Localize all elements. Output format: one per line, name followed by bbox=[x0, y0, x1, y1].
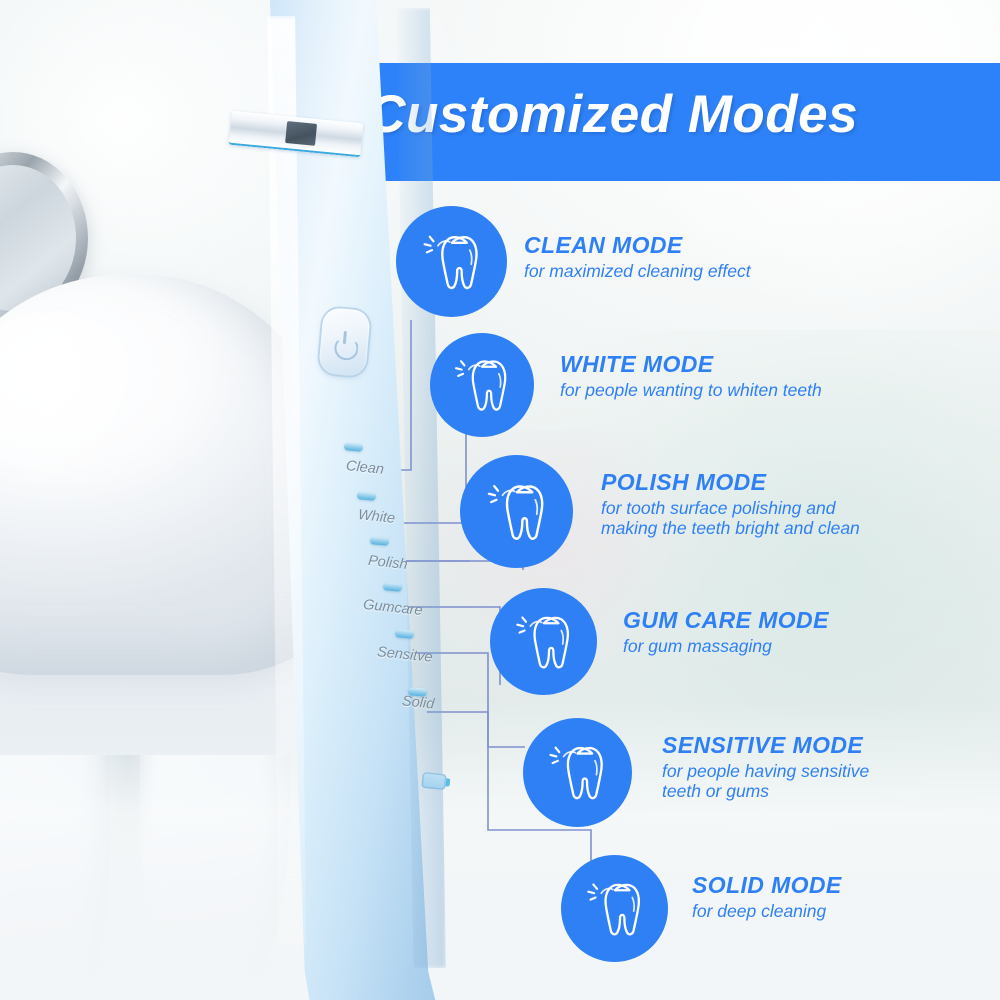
led-indicator-sensitive bbox=[395, 629, 415, 639]
mode-text-white: WHITE MODE for people wanting to whiten … bbox=[560, 352, 822, 401]
mode-title-sensitive: SENSITIVE MODE bbox=[662, 733, 869, 757]
mode-desc-clean: for maximized cleaning effect bbox=[524, 262, 751, 282]
tooth-sparkle-icon bbox=[447, 350, 517, 420]
battery-icon bbox=[421, 772, 447, 790]
mode-text-solid: SOLID MODE for deep cleaning bbox=[692, 873, 842, 922]
tooth-sparkle-icon bbox=[508, 606, 580, 678]
mode-title-solid: SOLID MODE bbox=[692, 873, 842, 897]
mode-text-clean: CLEAN MODE for maximized cleaning effect bbox=[524, 233, 751, 282]
mode-desc-white: for people wanting to whiten teeth bbox=[560, 381, 822, 401]
mode-desc-polish: for tooth surface polishing and making t… bbox=[601, 499, 860, 538]
led-indicator-polish bbox=[370, 536, 390, 546]
mode-title-white: WHITE MODE bbox=[560, 352, 822, 376]
mode-title-clean: CLEAN MODE bbox=[524, 233, 751, 257]
tooth-sparkle-icon bbox=[415, 225, 489, 299]
mode-text-sensitive: SENSITIVE MODE for people having sensiti… bbox=[662, 733, 869, 801]
tooth-sparkle-icon bbox=[479, 474, 555, 550]
led-indicator-clean bbox=[344, 442, 364, 452]
mode-icon-clean[interactable] bbox=[396, 206, 507, 317]
infographic-stage: 6 Customized Modes Cl bbox=[0, 0, 1000, 1000]
tooth-crown-gloss bbox=[0, 313, 144, 473]
mode-desc-solid: for deep cleaning bbox=[692, 902, 842, 922]
device-label-solid: Solid bbox=[401, 693, 435, 712]
mode-title-gum-care: GUM CARE MODE bbox=[623, 608, 829, 632]
mode-text-gum-care: GUM CARE MODE for gum massaging bbox=[623, 608, 829, 657]
led-indicator-white bbox=[357, 491, 377, 501]
mode-desc-sensitive: for people having sensitive teeth or gum… bbox=[662, 762, 869, 801]
mode-icon-polish[interactable] bbox=[460, 455, 573, 568]
mode-title-polish: POLISH MODE bbox=[601, 470, 860, 494]
mode-desc-gum-care: for gum massaging bbox=[623, 637, 829, 657]
mode-icon-white[interactable] bbox=[430, 333, 534, 437]
power-button[interactable] bbox=[318, 307, 371, 377]
mode-icon-solid[interactable] bbox=[561, 855, 668, 962]
tooth-sparkle-icon bbox=[541, 736, 614, 809]
device-ring-window bbox=[285, 121, 317, 146]
led-indicator-gumcare bbox=[383, 582, 403, 592]
mode-text-polish: POLISH MODE for tooth surface polishing … bbox=[601, 470, 860, 538]
mode-icon-gum-care[interactable] bbox=[490, 588, 597, 695]
power-icon bbox=[333, 330, 357, 354]
mode-icon-sensitive[interactable] bbox=[523, 718, 632, 827]
tooth-sparkle-icon bbox=[579, 873, 651, 945]
